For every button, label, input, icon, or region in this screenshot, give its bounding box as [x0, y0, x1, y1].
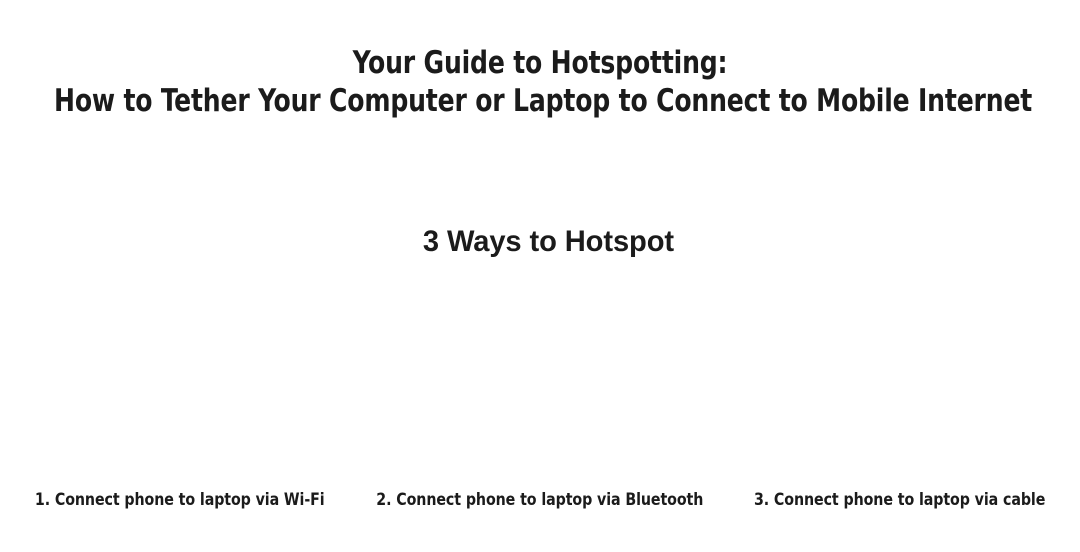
page-title: Your Guide to Hotspotting: How to Tether…	[0, 44, 1080, 120]
title-line-1: Your Guide to Hotspotting:	[54, 44, 1026, 82]
method-caption-2: 2. Connect phone to laptop via Bluetooth	[377, 489, 704, 511]
section-heading: 3 Ways to Hotspot	[0, 222, 1080, 262]
illustration-wifi-tethering	[0, 278, 360, 478]
document-page: Your Guide to Hotspotting: How to Tether…	[0, 0, 1080, 552]
caption-row: 1. Connect phone to laptop via Wi-Fi 2. …	[0, 487, 1080, 513]
title-line-2: How to Tether Your Computer or Laptop to…	[54, 82, 1026, 120]
illustration-cable-tethering	[720, 278, 1080, 478]
method-item-3: 3. Connect phone to laptop via cable	[720, 487, 1080, 513]
method-item-1: 1. Connect phone to laptop via Wi-Fi	[0, 487, 360, 513]
section-heading-text: 3 Ways to Hotspot	[422, 222, 673, 262]
illustration-bluetooth-tethering	[360, 278, 720, 478]
method-caption-3: 3. Connect phone to laptop via cable	[754, 489, 1045, 511]
illustration-row	[0, 278, 1080, 478]
method-caption-1: 1. Connect phone to laptop via Wi-Fi	[35, 489, 325, 511]
method-item-2: 2. Connect phone to laptop via Bluetooth	[360, 487, 720, 513]
